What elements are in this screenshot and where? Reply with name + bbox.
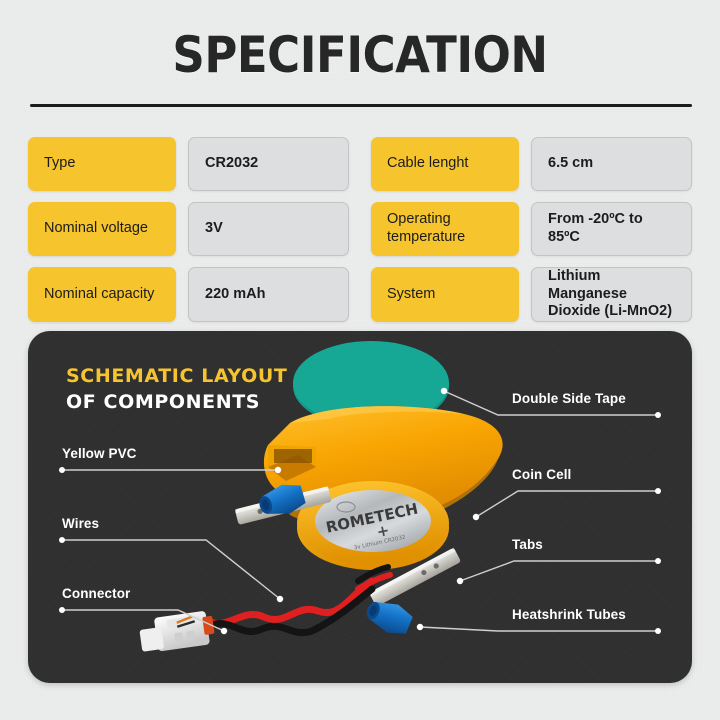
callout-label-heatshrink-tubes: Heatshrink Tubes — [512, 607, 626, 622]
spec-row: Nominal voltage 3V — [28, 202, 349, 256]
schematic-panel: SCHEMATIC LAYOUT OF COMPONENTS — [28, 331, 692, 683]
callout-label-double-side-tape: Double Side Tape — [512, 391, 626, 406]
spec-key: Operating temperature — [371, 202, 519, 256]
callout-label-wires: Wires — [62, 516, 99, 531]
spec-row: Type CR2032 — [28, 137, 349, 191]
spec-row: Cable lenght 6.5 cm — [371, 137, 692, 191]
header-divider — [30, 104, 692, 107]
spec-value: From -20ºC to 85ºC — [531, 202, 692, 256]
spec-key: Nominal voltage — [28, 202, 176, 256]
callout-labels: Yellow PVC Wires Connector Double Side T… — [28, 331, 692, 683]
callout-label-coin-cell: Coin Cell — [512, 467, 571, 482]
spec-key: Cable lenght — [371, 137, 519, 191]
spec-row: Nominal capacity 220 mAh — [28, 267, 349, 322]
spec-key: Nominal capacity — [28, 267, 176, 322]
specification-table: Type CR2032 Cable lenght 6.5 cm Nominal … — [28, 137, 692, 322]
spec-key: System — [371, 267, 519, 322]
spec-value: 220 mAh — [188, 267, 349, 322]
page-title: SPECIFICATION — [36, 26, 684, 84]
spec-key: Type — [28, 137, 176, 191]
callout-label-tabs: Tabs — [512, 537, 543, 552]
spec-row: Operating temperature From -20ºC to 85ºC — [371, 202, 692, 256]
spec-value: 6.5 cm — [531, 137, 692, 191]
callout-label-connector: Connector — [62, 586, 130, 601]
spec-value: CR2032 — [188, 137, 349, 191]
spec-value: Lithium Manganese Dioxide (Li-MnO2) — [531, 267, 692, 322]
infographic-page: SPECIFICATION Type CR2032 Cable lenght 6… — [0, 0, 720, 720]
spec-value: 3V — [188, 202, 349, 256]
spec-row: System Lithium Manganese Dioxide (Li-MnO… — [371, 267, 692, 322]
callout-label-yellow-pvc: Yellow PVC — [62, 446, 137, 461]
